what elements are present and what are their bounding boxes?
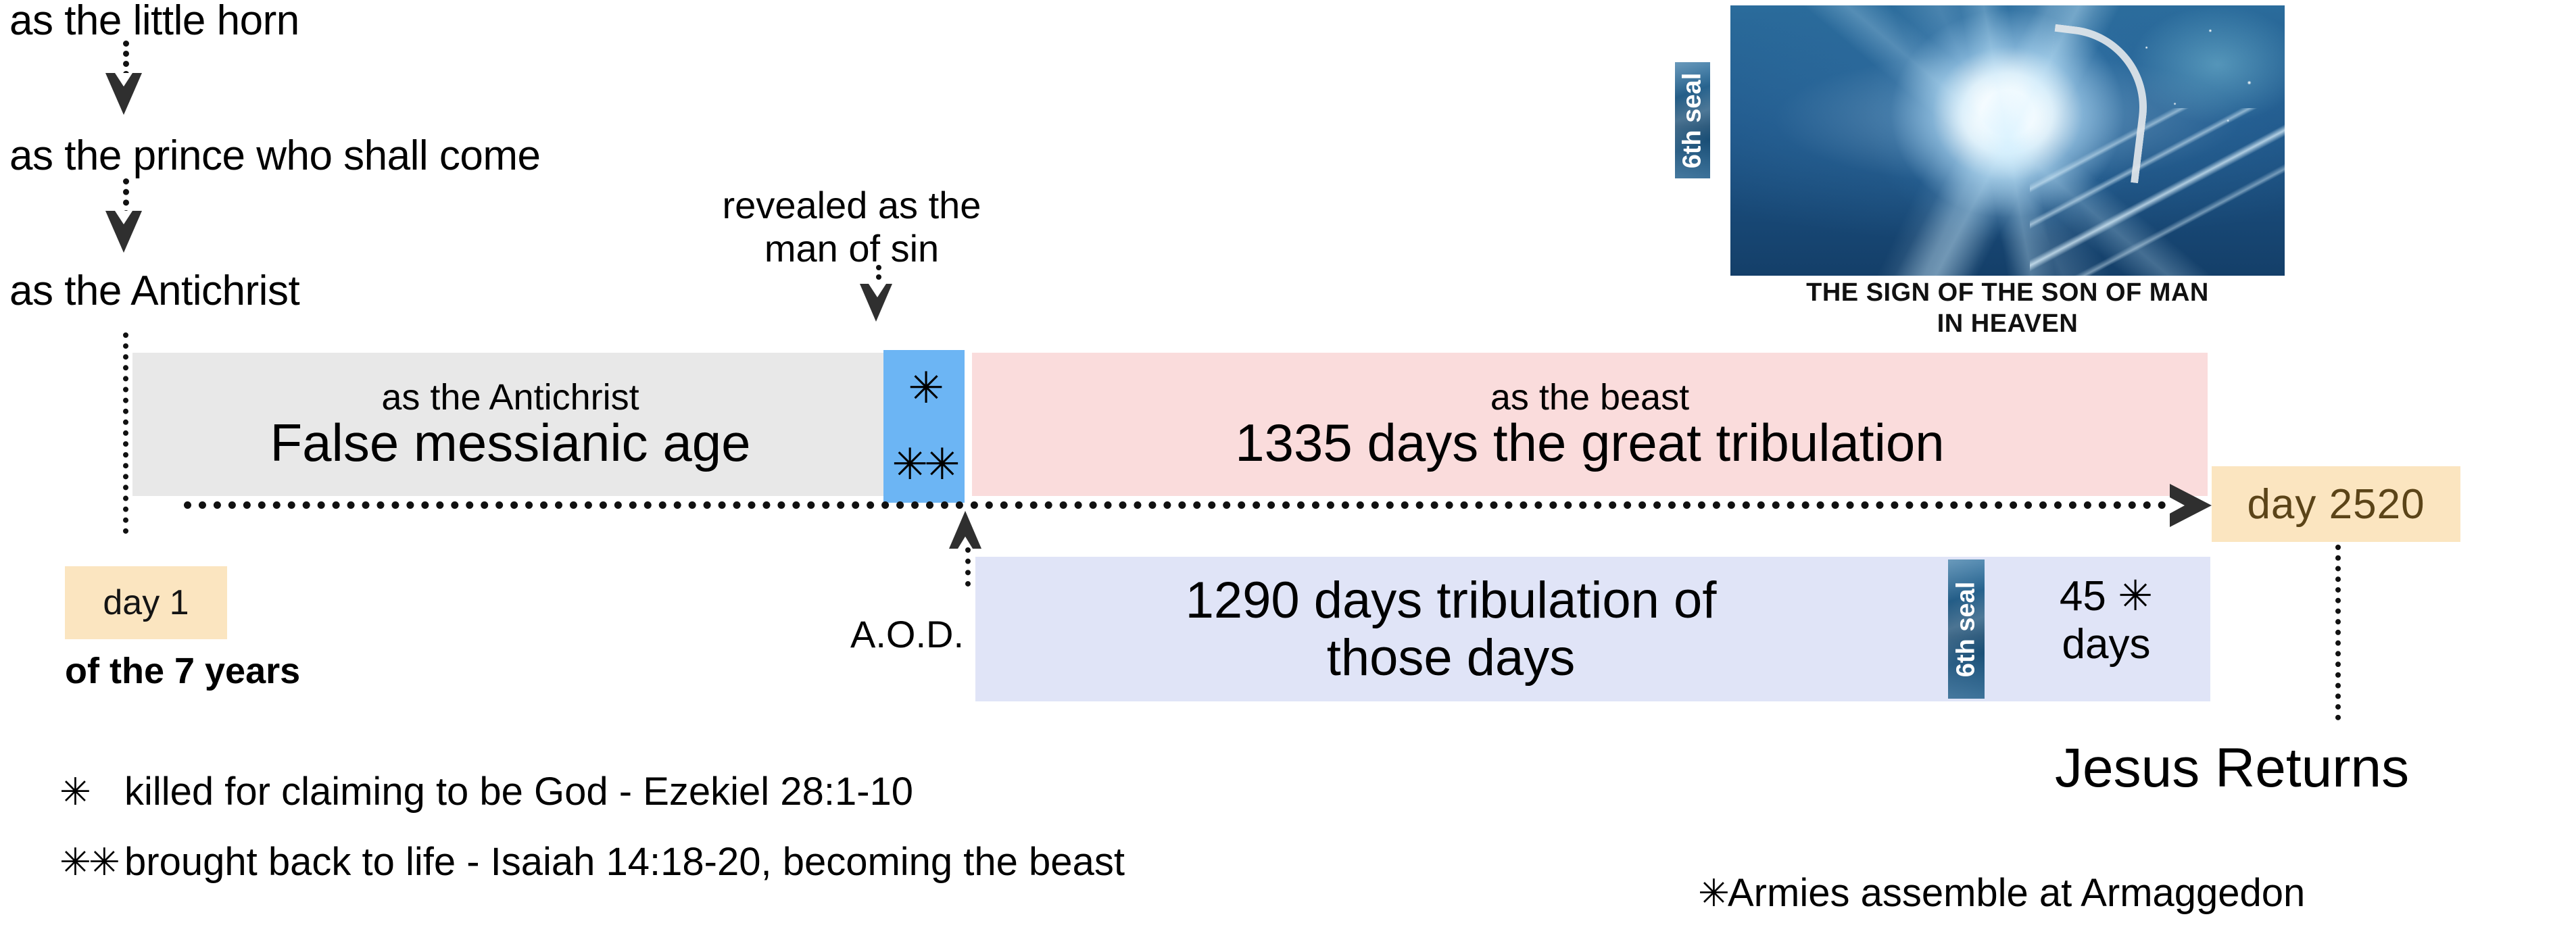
chain-label-antichrist: as the Antichrist [9, 270, 299, 312]
marker-asterisk-single: ✳ [908, 367, 940, 410]
footnote-1-mark: ✳ [59, 770, 124, 814]
cosmic-panel-seal-label: 6th seal [1678, 72, 1707, 168]
chip-day-1: day 1 [65, 566, 227, 639]
track-segment-great-tribulation: as the beast 1335 days the great tribula… [972, 353, 2208, 496]
day-1-subtitle: of the 7 years [65, 650, 300, 692]
timeline-dotted-axis [184, 501, 2181, 509]
day2520-to-jesus-returns-dotted-line [2335, 545, 2341, 720]
segment-grey-title: False messianic age [270, 416, 751, 470]
armageddon-note-row: ✳ Armies assemble at Armaggedon [1698, 870, 2305, 916]
aod-setup-dotted-line [965, 547, 971, 587]
lower-track-45-days: 45 ✳ days [2005, 573, 2208, 668]
footnote-1-text: killed for claiming to be God - Ezekiel … [124, 769, 913, 814]
segment-pink-subtitle: as the beast [1490, 379, 1689, 416]
chain-arrow-2 [105, 211, 142, 253]
segment-lavender-title-block: 1290 days tribulation of those days [1186, 572, 1717, 687]
footnote-row-1: ✳ killed for claiming to be God - Ezekie… [59, 769, 913, 814]
cosmic-panel-caption: THE SIGN OF THE SON OF MAN IN HEAVEN [1730, 277, 2285, 340]
chain-label-little-horn: as the little horn [9, 0, 299, 42]
timeline-axis-arrowhead [2170, 484, 2212, 527]
footnote-2-text: brought back to life - Isaiah 14:18-20, … [124, 839, 1125, 885]
marker-asterisk-double: ✳✳ [892, 443, 956, 487]
callout-revealed-arrow [860, 284, 892, 322]
track-segment-death-resurrection-marker: ✳ ✳✳ [883, 350, 965, 503]
cosmic-caption-line1: THE SIGN OF THE SON OF MAN [1730, 277, 2285, 308]
day1-reference-dotted-line [123, 332, 128, 534]
chain-connector-dots-1 [123, 41, 129, 77]
cosmic-caption-line2: IN HEAVEN [1730, 308, 2285, 339]
callout-revealed-line1: revealed as the [669, 184, 1034, 227]
callout-revealed-man-of-sin: revealed as the man of sin [669, 184, 1034, 270]
prophecy-timeline-diagram: as the little horn as the prince who sha… [0, 0, 2576, 946]
lower-track-45-line1: 45 ✳ [2005, 573, 2208, 621]
cosmic-panel-seal-tab: 6th seal [1675, 62, 1710, 178]
chain-label-prince-who-shall-come: as the prince who shall come [9, 135, 541, 177]
footnote-row-2: ✳✳ brought back to life - Isaiah 14:18-2… [59, 839, 1125, 885]
chip-day-2520: day 2520 [2212, 466, 2460, 542]
armageddon-note-text: Armies assemble at Armaggedon [1728, 870, 2305, 916]
aod-setup-arrow [949, 511, 981, 549]
sign-of-son-of-man-image [1730, 5, 2285, 276]
segment-lavender-line2: those days [1186, 629, 1717, 687]
jesus-returns-label: Jesus Returns [2055, 737, 2409, 800]
callout-revealed-line2: man of sin [669, 227, 1034, 270]
segment-grey-subtitle: as the Antichrist [381, 379, 639, 416]
armageddon-note-mark: ✳ [1698, 872, 1728, 916]
footnote-2-mark: ✳✳ [59, 841, 124, 885]
segment-lavender-line1: 1290 days tribulation of [1186, 572, 1717, 629]
lower-track-45-line2: days [2005, 621, 2208, 669]
segment-pink-title: 1335 days the great tribulation [1235, 416, 1944, 470]
lower-track-seal-label: 6th seal [1952, 581, 1981, 677]
lower-track-seal-tab: 6th seal [1948, 559, 1985, 699]
chain-arrow-1 [105, 73, 142, 115]
track-segment-false-messianic-age: as the Antichrist False messianic age [132, 353, 888, 496]
